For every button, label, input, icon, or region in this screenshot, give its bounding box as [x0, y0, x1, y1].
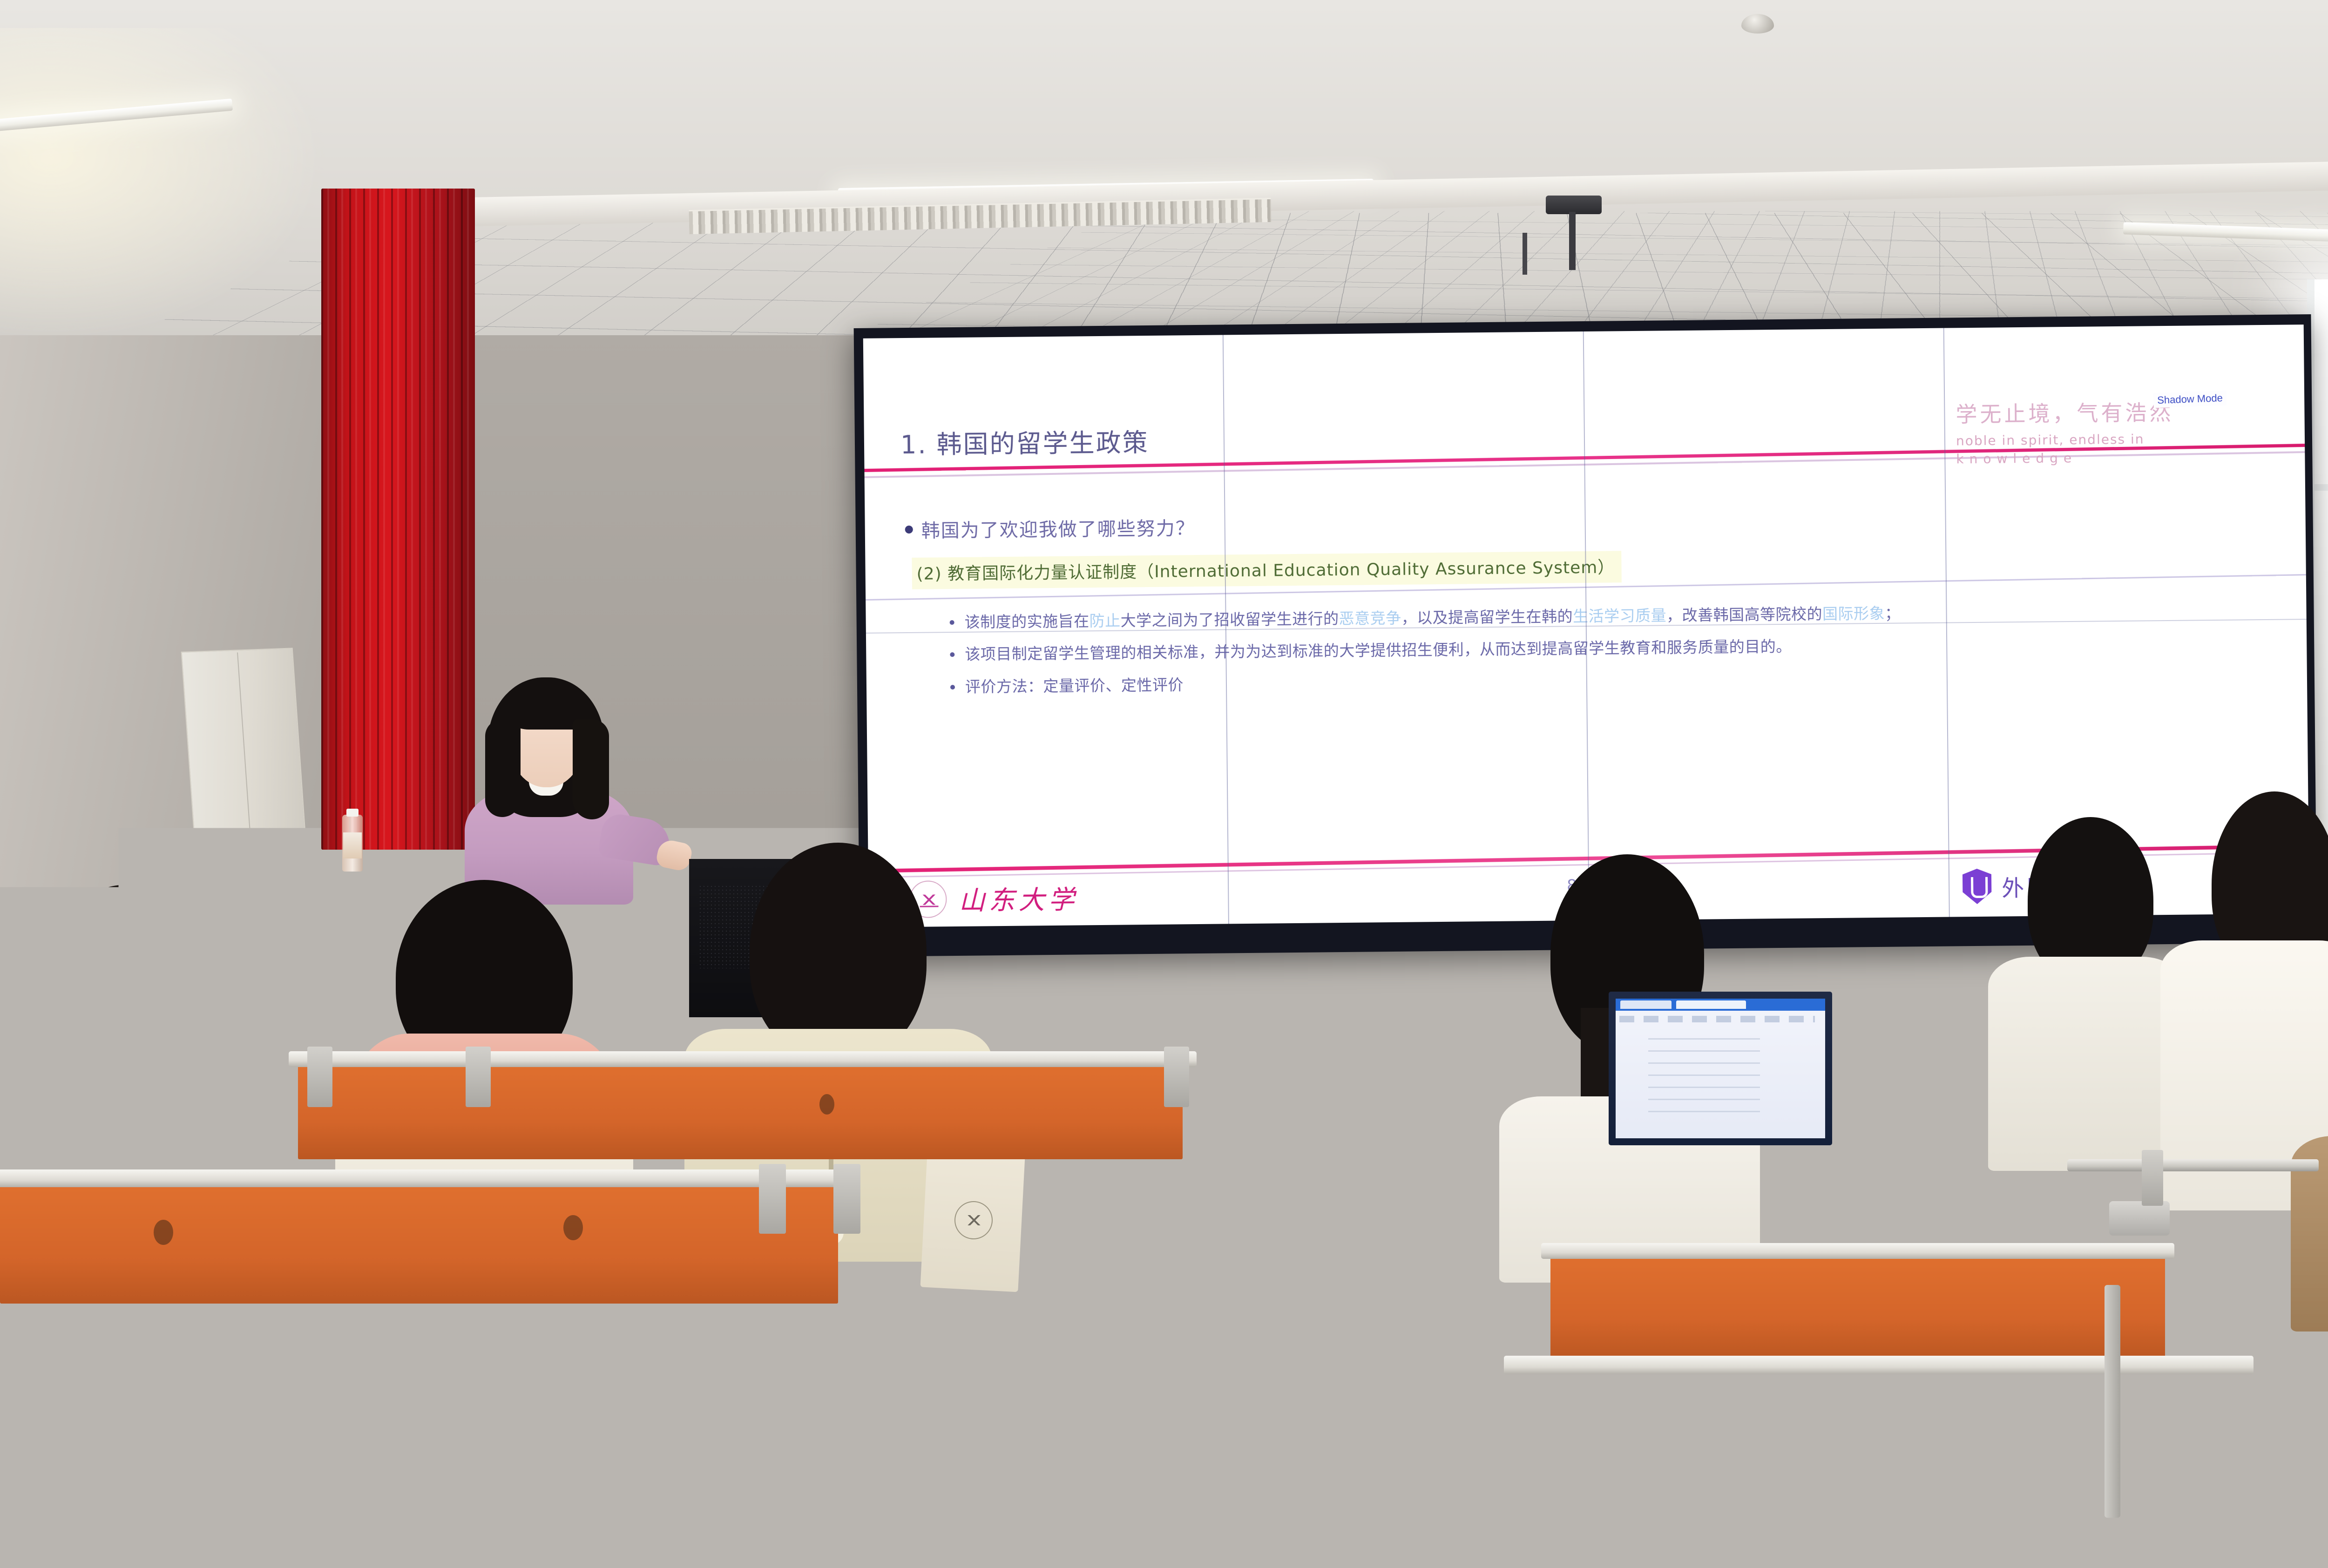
desk-cable-hole	[247, 1401, 270, 1431]
ceiling-camera-dome-icon	[1741, 14, 1774, 34]
hoodie-text-sub: KEEP SMILING AND BE PLAYFUL	[42, 1048, 303, 1058]
desk-leg	[577, 1406, 597, 1568]
student-brown-coat	[2291, 764, 2328, 1322]
slide-body-list: 该制度的实施旨在防止大学之间为了招收留学生进行的恶意竞争，以及提高留学生在韩的生…	[949, 600, 2021, 707]
desk-row	[1550, 1252, 2165, 1359]
desk-bracket	[2142, 1150, 2163, 1206]
watermark-english-line1: noble in spirit, endless in	[1956, 430, 2282, 449]
desk-bracket	[1164, 1047, 1189, 1107]
desk-row	[298, 1061, 1183, 1159]
bullet-dot-icon	[905, 525, 913, 533]
projector-pole	[1569, 212, 1576, 270]
lead-bullet-row: 韩国为了欢迎我做了哪些努力？	[905, 513, 1195, 543]
student-sweater	[1988, 957, 2184, 1171]
desk-bracket	[759, 1164, 786, 1234]
body-bullet-1: 该制度的实施旨在防止大学之间为了招收留学生进行的恶意竞争，以及提高留学生在韩的生…	[949, 600, 2020, 635]
laptop-document-lines	[1648, 1038, 1760, 1117]
lead-bullet-text: 韩国为了欢迎我做了哪些努力？	[921, 513, 1195, 543]
laptop-browser-tab[interactable]	[1676, 1000, 1746, 1009]
desk-leg	[2272, 1257, 2288, 1518]
instructor-hair-right	[573, 719, 609, 819]
body-bullet-3: 评价方法：定量评价、定性评价	[950, 664, 2021, 700]
desk-surface	[289, 1051, 1197, 1067]
desk-surface	[1504, 1356, 2254, 1374]
hoodie-text-top: CK FAMILY	[51, 1024, 293, 1046]
bullet-dot-icon	[950, 620, 954, 625]
whiteboard-seam	[237, 652, 253, 867]
body-bullet-1-text: 该制度的实施旨在防止大学之间为了招收留学生进行的恶意竞争，以及提高留学生在韩的生…	[964, 601, 1900, 635]
desk-rail	[2067, 1159, 2319, 1171]
body-bullet-2-text: 该项目制定留学生管理的相关标准，并为为达到标准的大学提供招生便利，从而达到提高留…	[965, 634, 1792, 667]
desk-row-frontmost	[0, 1480, 242, 1568]
desk-cable-hole	[819, 1094, 834, 1115]
body-bullet-2: 该项目制定留学生管理的相关标准，并为为达到标准的大学提供招生便利，从而达到提高留…	[950, 632, 2021, 667]
bullet-dot-icon	[950, 685, 955, 689]
projector-pole-secondary	[1523, 233, 1527, 275]
student-knit	[1988, 817, 2184, 1171]
desk-leg	[1015, 1299, 1034, 1494]
desk-surface	[0, 1169, 857, 1187]
bullet-dot-icon	[950, 652, 954, 657]
watermark-english-line2: knowledge	[1956, 448, 2282, 467]
desk-leg	[773, 1443, 792, 1568]
desk-rail	[643, 1304, 941, 1319]
hoodie-text-bottom: BDBP 2005	[51, 1061, 293, 1084]
bottle-label	[343, 832, 362, 858]
phone-on-desk[interactable]	[2109, 1201, 2170, 1236]
instructor-hair-left	[485, 719, 521, 817]
shadow-mode-badge[interactable]: Shadow Mode	[2153, 391, 2227, 408]
desk-rail	[819, 1429, 1108, 1445]
instructor	[447, 677, 647, 901]
desk-bracket	[833, 1164, 860, 1234]
bottle-cap	[346, 809, 359, 817]
secondary-laptop[interactable]	[1884, 1017, 1976, 1101]
desk-cable-hole	[154, 1220, 173, 1245]
projector-mount	[1546, 196, 1602, 214]
laptop-toolbar	[1619, 1016, 1815, 1022]
ceiling-light-glow	[0, 28, 345, 335]
desk-bracket	[554, 1325, 584, 1404]
body-bullet-3-text: 评价方法：定量评价、定性评价	[965, 672, 1184, 699]
slide-title: 1. 韩国的留学生政策	[900, 422, 1149, 461]
desk-surface	[0, 1467, 251, 1485]
desk-cable-hole	[563, 1215, 583, 1240]
desk-bracket	[307, 1047, 332, 1107]
laptop-browser-tab[interactable]	[1620, 1000, 1672, 1009]
desk-leg	[2105, 1285, 2120, 1518]
classroom-photo-scene: 1. 韩国的留学生政策 韩国为了欢迎我做了哪些努力？ (2) 教育国际化力量认证…	[0, 0, 2328, 1568]
slide-watermark: 学无止境，气有浩然 noble in spirit, endless in kn…	[1956, 395, 2282, 467]
desk-row	[1513, 1369, 2240, 1508]
desk-surface	[1541, 1243, 2174, 1259]
shield-icon	[1963, 869, 1992, 905]
desk-row	[0, 1183, 838, 1304]
highlighted-heading: (2) 教育国际化力量认证制度（International Education …	[912, 551, 1621, 589]
tote-bag-logo-icon	[954, 1201, 993, 1239]
whiteboard-panel	[181, 648, 308, 870]
desk-bracket	[466, 1047, 491, 1107]
watermark-chinese: 学无止境，气有浩然	[1956, 395, 2282, 429]
